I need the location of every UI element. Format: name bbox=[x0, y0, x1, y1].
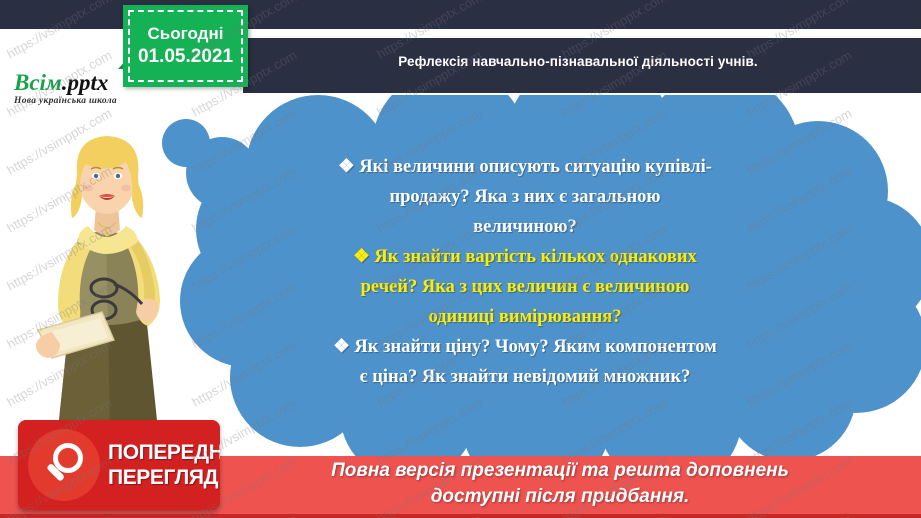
bubble-line: ❖ Як знайти ціну? Чому? Яким компонентом bbox=[240, 332, 810, 362]
magnifier-icon bbox=[28, 429, 100, 501]
bubble-line: одиниці вимірювання? bbox=[240, 302, 810, 332]
logo-brand-main: Всім bbox=[14, 70, 62, 95]
preview-button-label: ПОПЕРЕДНІЙ ПЕРЕГЛЯД bbox=[108, 440, 220, 490]
page-title: Рефлексія навчально-пізнавальної діяльно… bbox=[398, 54, 758, 69]
today-badge-content: Сьогодні 01.05.2021 bbox=[123, 5, 248, 87]
bubble-line: речей? Яка з цих величин є величиною bbox=[240, 272, 810, 302]
slide-root: Рефлексія навчально-пізнавальної діяльно… bbox=[0, 0, 921, 518]
preview-label-line2: ПЕРЕГЛЯД bbox=[108, 465, 220, 490]
bubble-text-block: ❖ Які величини описують ситуацію купівлі… bbox=[240, 152, 810, 392]
bubble-line: ❖ Як знайти вартість кількох однакових bbox=[240, 242, 810, 272]
preview-button[interactable]: ПОПЕРЕДНІЙ ПЕРЕГЛЯД bbox=[18, 420, 220, 510]
footer-banner-text: Повна версія презентації та решта доповн… bbox=[230, 458, 890, 510]
logo-brand-ext: pptx bbox=[67, 70, 108, 95]
today-badge: Сьогодні 01.05.2021 bbox=[123, 5, 248, 87]
today-date: 01.05.2021 bbox=[138, 46, 233, 68]
footer-banner-line2: доступні після придбання. bbox=[230, 484, 890, 510]
today-label: Сьогодні bbox=[148, 24, 224, 44]
footer-banner-underline bbox=[0, 514, 921, 518]
footer-banner-line1: Повна версія презентації та решта доповн… bbox=[230, 458, 890, 484]
bubble-line: продажу? Яка з них є загальною bbox=[240, 182, 810, 212]
bubble-line: ❖ Які величини описують ситуацію купівлі… bbox=[240, 152, 810, 182]
bubble-line: величиною? bbox=[240, 212, 810, 242]
bubble-line: є ціна? Як знайти невідомий множник? bbox=[240, 362, 810, 392]
preview-label-line1: ПОПЕРЕДНІЙ bbox=[108, 440, 220, 465]
header-title-bar: Рефлексія навчально-пізнавальної діяльно… bbox=[250, 38, 906, 85]
